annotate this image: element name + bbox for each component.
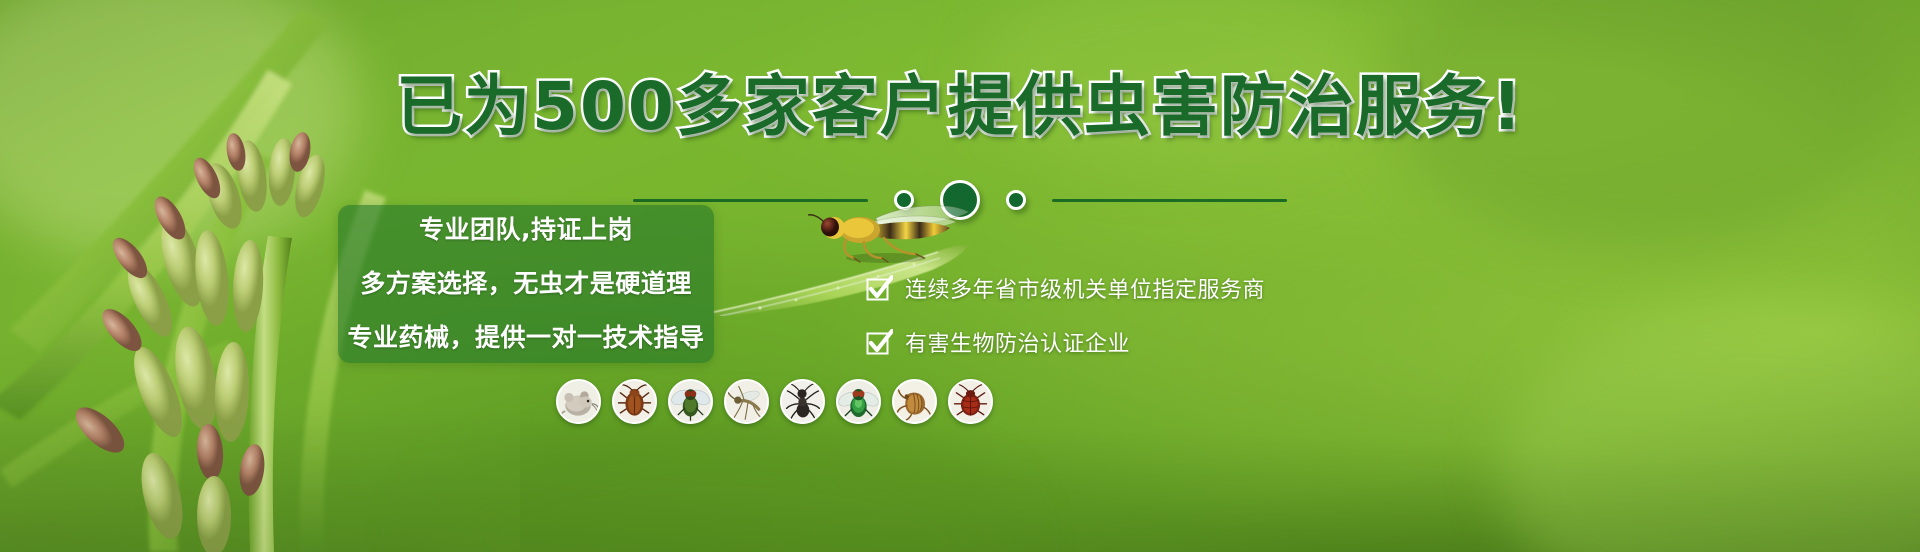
flea-icon[interactable] — [892, 379, 937, 424]
fly-icon[interactable] — [668, 379, 713, 424]
info-box-line-3: 专业药械，提供一对一技术指导 — [348, 318, 705, 354]
mouse-icon[interactable] — [556, 379, 601, 424]
banner-headline: 已为500多家客户提供虫害防治服务! — [0, 74, 1920, 140]
bedbug-icon[interactable] — [948, 379, 993, 424]
pest-icon-row — [556, 379, 993, 424]
banner-headline-text: 已为500多家客户提供虫害防治服务! — [396, 68, 1524, 145]
checklist-item-label: 有害生物防治认证企业 — [905, 326, 1130, 358]
info-box-line-1: 专业团队,持证上岗 — [419, 210, 633, 246]
checklist-item: 有害生物防治认证企业 — [866, 326, 1326, 358]
ant-icon[interactable] — [780, 379, 825, 424]
mosquito-icon[interactable] — [724, 379, 769, 424]
divider-line-right — [1052, 199, 1287, 202]
checklist-item: 连续多年省市级机关单位指定服务商 — [866, 272, 1326, 304]
feature-checklist: 连续多年省市级机关单位指定服务商 有害生物防治认证企业 — [866, 272, 1326, 380]
info-box-line-2: 多方案选择，无虫才是硬道理 — [360, 264, 692, 300]
checklist-item-label: 连续多年省市级机关单位指定服务商 — [905, 272, 1265, 304]
promo-banner: 已为500多家客户提供虫害防治服务! — [0, 0, 1920, 552]
cockroach-icon[interactable] — [612, 379, 657, 424]
blowfly-icon[interactable] — [836, 379, 881, 424]
info-box: 专业团队,持证上岗 多方案选择，无虫才是硬道理 专业药械，提供一对一技术指导 — [338, 205, 714, 363]
checkbox-checked-icon — [866, 275, 893, 302]
checkbox-checked-icon — [866, 329, 893, 356]
